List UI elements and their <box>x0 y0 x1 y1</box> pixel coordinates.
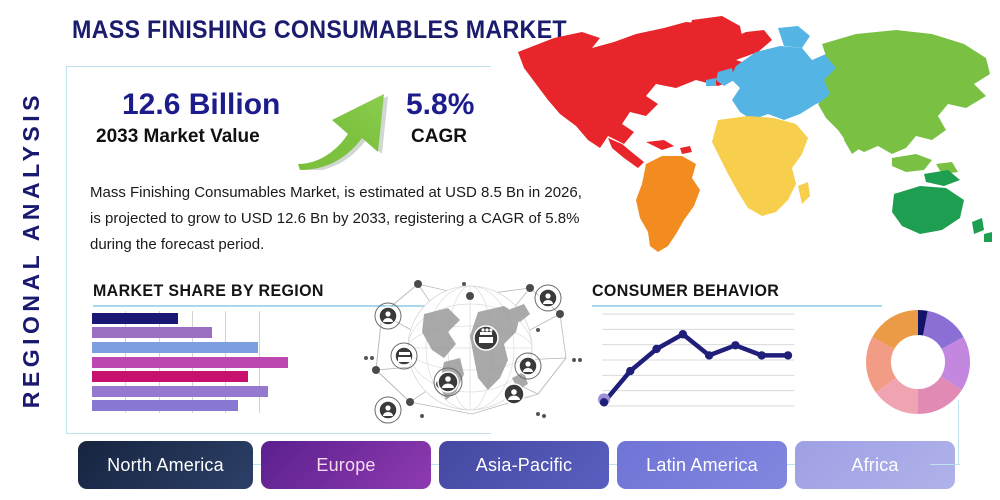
line-point <box>758 351 766 359</box>
map-region-central-america <box>608 138 644 168</box>
pill-connector <box>431 464 439 465</box>
pill-connector <box>609 464 617 465</box>
table-row <box>92 327 292 338</box>
table-row <box>92 400 292 411</box>
bar-segment <box>92 400 238 411</box>
line-point <box>705 351 713 359</box>
map-region-madagascar <box>798 182 810 204</box>
globe-network-icon <box>352 266 584 426</box>
region-pill-asia-pacific[interactable]: Asia-Pacific <box>439 441 609 489</box>
donut-slices <box>866 310 970 414</box>
line-point <box>679 330 687 338</box>
table-row <box>92 357 292 368</box>
cagr-figure: 5.8% <box>406 88 474 122</box>
pill-connector <box>253 464 261 465</box>
line-point <box>652 345 660 353</box>
growth-arrow-icon <box>292 78 402 170</box>
region-pill-africa[interactable]: Africa <box>795 441 955 489</box>
side-label-text: REGIONAL ANALYSIS <box>18 91 45 408</box>
line-chart-gridlines <box>602 314 794 406</box>
consumer-behavior-title: CONSUMER BEHAVIOR <box>592 281 874 301</box>
frame-tail-connector-vertical <box>958 400 959 465</box>
line-point <box>626 367 634 375</box>
bar-segment <box>92 313 178 324</box>
bar-segment <box>92 342 258 353</box>
table-row <box>92 313 292 324</box>
line-point <box>731 341 739 349</box>
map-region-south-america <box>636 156 700 252</box>
bar-segment <box>92 386 268 397</box>
table-row <box>92 371 292 382</box>
pill-connector <box>787 464 795 465</box>
map-region-africa <box>712 116 808 216</box>
line-point <box>784 351 792 359</box>
bar-segment <box>92 327 212 338</box>
region-pill-latin-america[interactable]: Latin America <box>617 441 787 489</box>
region-pill-north-america[interactable]: North America <box>78 441 253 489</box>
page-title: MASS FINISHING CONSUMABLES MARKET <box>72 16 567 45</box>
map-region-new-zealand <box>972 218 992 242</box>
frame-tail-connector-horizontal <box>930 464 960 465</box>
market-value-figure: 12.6 Billion <box>122 88 280 122</box>
market-value-label: 2033 Market Value <box>96 126 260 148</box>
table-row <box>92 342 292 353</box>
map-region-caribbean <box>646 140 692 154</box>
consumer-behavior-line-chart <box>598 304 798 416</box>
cagr-label: CAGR <box>411 126 467 148</box>
world-map-icon <box>496 8 1000 263</box>
line-point <box>600 398 608 406</box>
map-region-australia <box>892 186 964 234</box>
regional-analysis-side-label: REGIONAL ANALYSIS <box>0 0 62 500</box>
region-pill-europe[interactable]: Europe <box>261 441 431 489</box>
kpi-row: 12.6 Billion 2033 Market Value 5.8% CAGR <box>66 80 501 168</box>
region-pill-bar: North AmericaEuropeAsia-PacificLatin Ame… <box>78 441 990 489</box>
bar-segment <box>92 357 288 368</box>
bar-segment <box>92 371 248 382</box>
market-share-bar-chart <box>92 311 292 413</box>
table-row <box>92 386 292 397</box>
map-region-scandinavia <box>778 26 810 48</box>
